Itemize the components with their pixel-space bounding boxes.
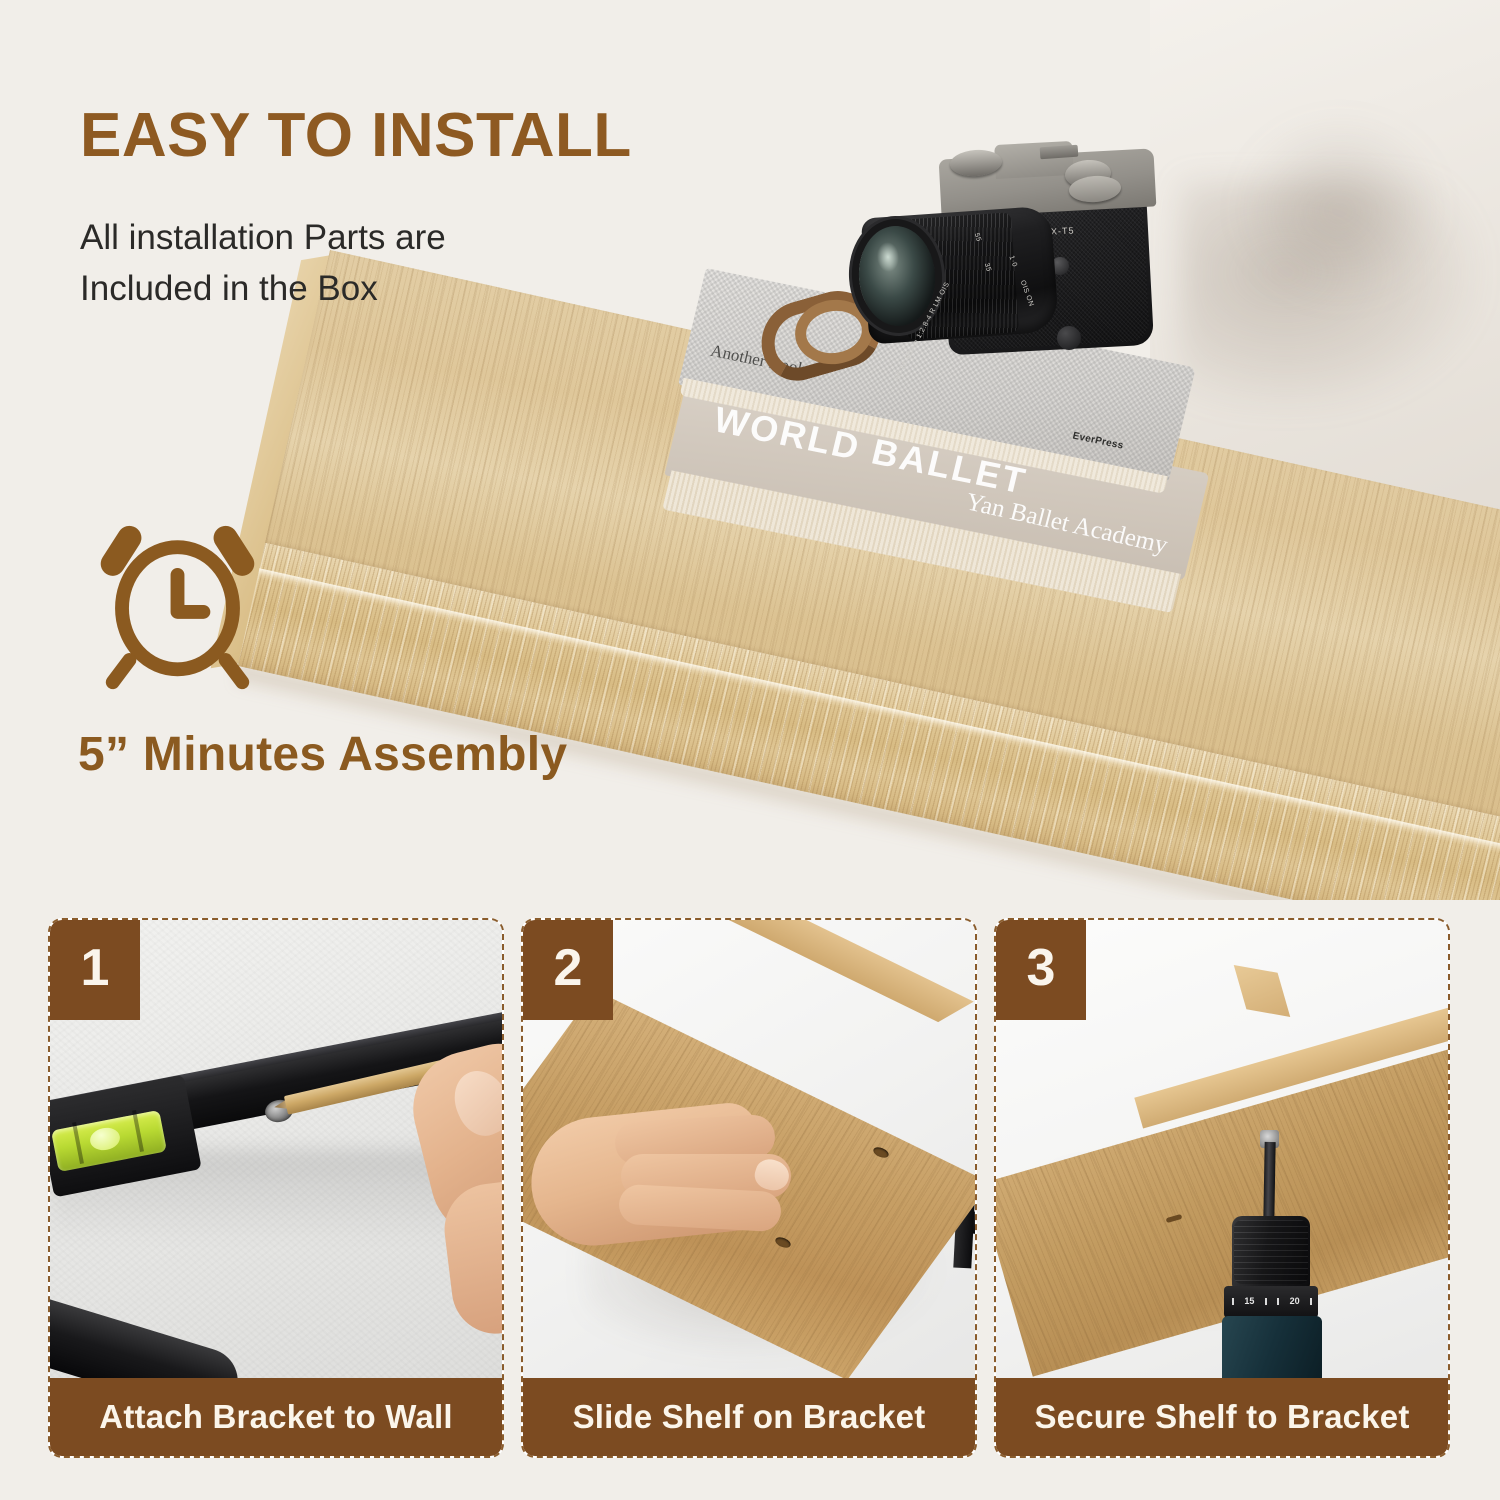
camera-lens-release (1057, 326, 1081, 350)
camera: X-T5 55 35 1·0 OIS ON XF 18-55mm 1:2.8-4… (855, 130, 1195, 395)
assembly-time-text: 5” Minutes Assembly (78, 727, 567, 782)
alarm-clock-icon (85, 512, 270, 697)
hero-section: WORLD BALLET Yan Ballet Academy Another … (0, 0, 1500, 900)
clutch-number-15: 15 (1244, 1296, 1254, 1306)
step-caption-bar-3: Secure Shelf to Bracket (996, 1378, 1448, 1456)
step-caption-text: Attach Bracket to Wall (99, 1398, 452, 1436)
clutch-tick (1310, 1298, 1312, 1305)
page-subtitle: All installation Parts are Included in t… (80, 212, 446, 314)
clutch-tick (1277, 1298, 1279, 1305)
step-caption-bar-2: Slide Shelf on Bracket (523, 1378, 975, 1456)
step-caption-bar-1: Attach Bracket to Wall (50, 1378, 502, 1456)
page-title: EASY TO INSTALL (80, 100, 632, 171)
wall-shadow-secondary (1240, 120, 1440, 300)
hand-finger (618, 1184, 782, 1232)
clutch-number-20: 20 (1290, 1296, 1300, 1306)
drill-body (1222, 1316, 1322, 1382)
step-panel-2: 2 Slide Shelf on Bracket (521, 918, 977, 1458)
step-caption-text: Slide Shelf on Bracket (573, 1398, 926, 1436)
step-number: 2 (554, 942, 583, 994)
step-panel-3: 15 20 3 Secure Shelf to Bracket (994, 918, 1450, 1458)
camera-model-label: X-T5 (1051, 225, 1075, 236)
drill-clutch-scale: 15 20 (1228, 1294, 1316, 1308)
drill-bit (1263, 1142, 1275, 1220)
step-panel-1: 1 Attach Bracket to Wall (48, 918, 504, 1458)
step-number-badge-1: 1 (50, 920, 140, 1020)
installation-steps-section: 1 Attach Bracket to Wall 2 Slide Shelf o… (0, 900, 1500, 1500)
step-number: 1 (81, 942, 110, 994)
drill-chuck-grip (1234, 1220, 1308, 1284)
step-number-badge-3: 3 (996, 920, 1086, 1020)
clutch-tick (1265, 1298, 1267, 1305)
step-number: 3 (1027, 942, 1056, 994)
clutch-tick (1232, 1298, 1234, 1305)
step-number-badge-2: 2 (523, 920, 613, 1020)
step-caption-text: Secure Shelf to Bracket (1034, 1398, 1409, 1436)
